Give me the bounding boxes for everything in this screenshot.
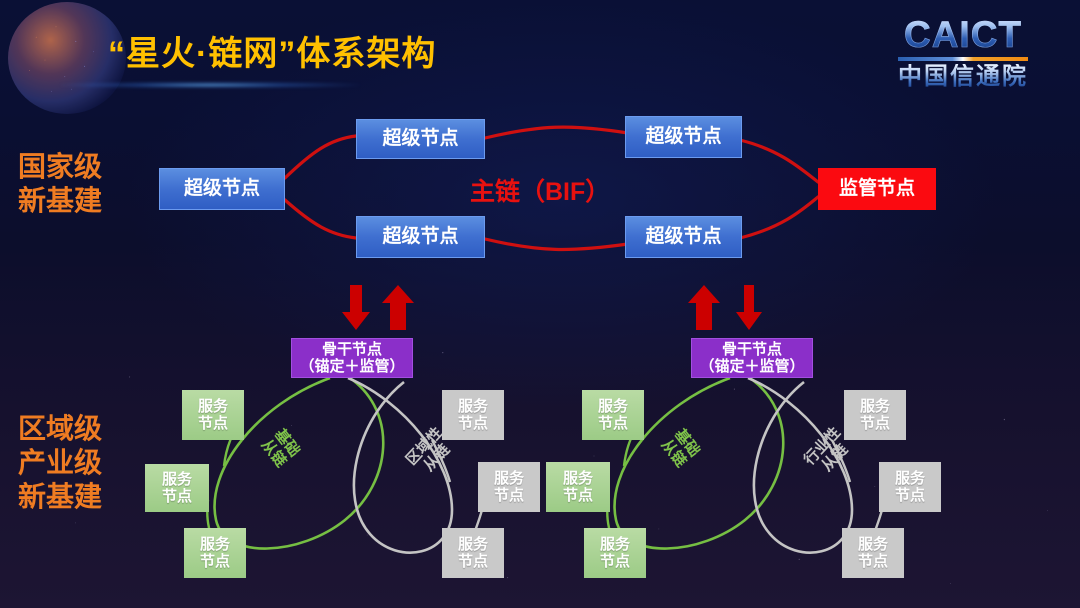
subchain-label-basic-right: 基础 从链 bbox=[649, 415, 712, 483]
connector-overlay bbox=[0, 0, 1080, 608]
node-label-line1: 服务 bbox=[200, 536, 230, 553]
node-label-line1: 服务 bbox=[198, 398, 228, 415]
node-label: 超级节点 bbox=[382, 128, 458, 150]
node-label-line1: 服务 bbox=[162, 471, 192, 488]
slide-canvas: “星火·链网”体系架构 CAICT 中国信通院 国家级 新基建 区域级 产业级 … bbox=[0, 0, 1080, 608]
logo-divider bbox=[898, 57, 1028, 61]
backbone-label-line1: 骨干节点 bbox=[322, 341, 382, 358]
tier-label-national: 国家级 新基建 bbox=[18, 150, 102, 218]
node-label: 超级节点 bbox=[184, 178, 260, 200]
tier-label-regional: 区域级 产业级 新基建 bbox=[18, 412, 102, 514]
node-label-line2: 节点 bbox=[860, 415, 890, 432]
main-chain-caption: 主链（BIF） bbox=[470, 172, 610, 208]
node-label-line2: 节点 bbox=[200, 553, 230, 570]
node-label: 超级节点 bbox=[645, 226, 721, 248]
super-node-5[interactable]: 超级节点 bbox=[625, 216, 742, 258]
logo-chinese-name: 中国信通院 bbox=[898, 64, 1028, 89]
node-label-line2: 节点 bbox=[563, 487, 593, 504]
backbone-node-left[interactable]: 骨干节点 （锚定＋监管） bbox=[291, 338, 413, 378]
regulator-node[interactable]: 监管节点 bbox=[818, 168, 936, 210]
super-node-3[interactable]: 超级节点 bbox=[356, 216, 485, 258]
service-node-green-5[interactable]: 服务 节点 bbox=[546, 462, 610, 512]
subchain-label-basic-left: 基础 从链 bbox=[249, 415, 312, 483]
node-label-line2: 节点 bbox=[458, 553, 488, 570]
service-node-green-4[interactable]: 服务 节点 bbox=[582, 390, 644, 440]
node-label-line2: 节点 bbox=[598, 415, 628, 432]
service-node-gray-3[interactable]: 服务 节点 bbox=[442, 528, 504, 578]
arrow-group-left bbox=[342, 285, 414, 330]
node-label-line1: 服务 bbox=[458, 536, 488, 553]
backbone-label-line1: 骨干节点 bbox=[722, 341, 782, 358]
service-node-gray-2[interactable]: 服务 节点 bbox=[478, 462, 540, 512]
node-label-line1: 服务 bbox=[600, 536, 630, 553]
page-title: “星火·链网”体系架构 bbox=[108, 26, 436, 75]
service-node-gray-1[interactable]: 服务 节点 bbox=[442, 390, 504, 440]
up-arrow-left bbox=[382, 285, 414, 330]
node-label-line2: 节点 bbox=[600, 553, 630, 570]
node-label-line1: 服务 bbox=[858, 536, 888, 553]
super-node-1[interactable]: 超级节点 bbox=[159, 168, 285, 210]
node-label-line1: 服务 bbox=[598, 398, 628, 415]
node-label-line2: 节点 bbox=[895, 487, 925, 504]
service-node-green-3[interactable]: 服务 节点 bbox=[184, 528, 246, 578]
down-arrow-right bbox=[736, 285, 762, 330]
node-label: 超级节点 bbox=[382, 226, 458, 248]
service-node-green-2[interactable]: 服务 节点 bbox=[145, 464, 209, 512]
super-node-2[interactable]: 超级节点 bbox=[356, 119, 485, 159]
service-node-green-1[interactable]: 服务 节点 bbox=[182, 390, 244, 440]
node-label-line1: 服务 bbox=[494, 470, 524, 487]
up-arrow-right bbox=[688, 285, 720, 330]
node-label-line2: 节点 bbox=[458, 415, 488, 432]
down-arrow-left bbox=[342, 285, 370, 330]
node-label-line2: 节点 bbox=[198, 415, 228, 432]
node-label-line2: 节点 bbox=[858, 553, 888, 570]
node-label-line1: 服务 bbox=[860, 398, 890, 415]
glow-streak-decoration bbox=[60, 82, 360, 88]
backbone-node-right[interactable]: 骨干节点 （锚定＋监管） bbox=[691, 338, 813, 378]
logo-acronym: CAICT bbox=[898, 16, 1028, 53]
node-label: 超级节点 bbox=[645, 126, 721, 148]
service-node-green-6[interactable]: 服务 节点 bbox=[584, 528, 646, 578]
node-label-line1: 服务 bbox=[458, 398, 488, 415]
backbone-label-line2: （锚定＋监管） bbox=[699, 358, 804, 375]
starfield-texture bbox=[0, 0, 1080, 608]
node-label-line1: 服务 bbox=[563, 470, 593, 487]
super-node-4[interactable]: 超级节点 bbox=[625, 116, 742, 158]
service-node-gray-4[interactable]: 服务 节点 bbox=[844, 390, 906, 440]
arrow-group-right bbox=[688, 285, 762, 330]
caict-logo: CAICT 中国信通院 bbox=[898, 16, 1028, 89]
service-node-gray-5[interactable]: 服务 节点 bbox=[879, 462, 941, 512]
service-node-gray-6[interactable]: 服务 节点 bbox=[842, 528, 904, 578]
node-label-line2: 节点 bbox=[162, 488, 192, 505]
node-label-line1: 服务 bbox=[895, 470, 925, 487]
node-label-line2: 节点 bbox=[494, 487, 524, 504]
backbone-label-line2: （锚定＋监管） bbox=[299, 358, 404, 375]
node-label: 监管节点 bbox=[839, 178, 915, 200]
